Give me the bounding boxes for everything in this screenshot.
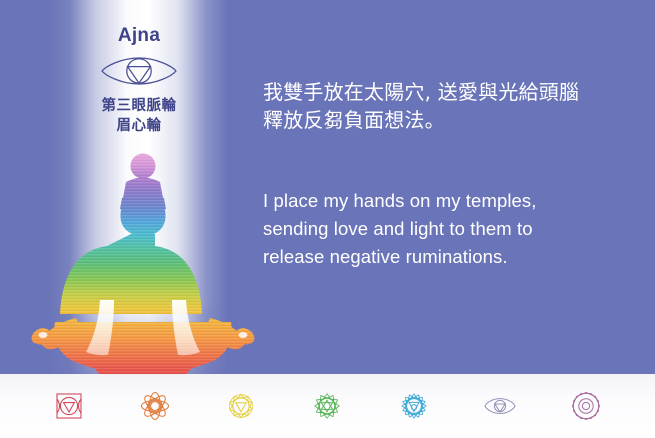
chakra-nav-heart[interactable] [310,389,344,423]
chakra-navigation-bar [0,374,655,438]
chakra-nav-third-eye[interactable] [483,389,517,423]
chakra-nav-solar-plexus[interactable] [224,389,258,423]
manipura-icon [226,391,256,421]
chakra-header: Ajna 第三眼脈輪 眉心輪 [60,26,218,136]
anahata-icon [312,391,342,421]
vishuddha-icon [399,391,429,421]
chakra-chinese-name-line2: 眉心輪 [60,117,218,137]
chakra-nav-root[interactable] [52,389,86,423]
chakra-nav-throat[interactable] [397,389,431,423]
affirmation-english: I place my hands on my temples, sending … [263,187,635,271]
chakra-sanskrit-name: Ajna [60,26,218,45]
chakra-chinese-name-line1: 第三眼脈輪 [60,97,218,117]
ajna-icon [484,396,516,416]
affirmation-english-line3: release negative ruminations. [263,243,635,271]
muladhara-icon [54,391,84,421]
svadhisthana-icon [140,391,170,421]
affirmation-text: 我雙手放在太陽穴, 送愛與光給頭腦 釋放反芻負面想法。 I place my h… [263,78,635,271]
third-eye-chakra-icon [60,54,218,88]
affirmation-chinese: 我雙手放在太陽穴, 送愛與光給頭腦 釋放反芻負面想法。 [263,78,635,135]
chakra-nav-crown[interactable] [569,389,603,423]
chakra-chinese-name: 第三眼脈輪 眉心輪 [60,97,218,136]
affirmation-chinese-line2: 釋放反芻負面想法。 [263,106,635,134]
chakra-nav-sacral[interactable] [138,389,172,423]
affirmation-english-line2: sending love and light to them to [263,215,635,243]
chakra-affirmation-card: Ajna 第三眼脈輪 眉心輪 [0,0,655,438]
affirmation-english-line1: I place my hands on my temples, [263,187,635,215]
meditating-lotus-figure [30,152,256,384]
affirmation-chinese-line1: 我雙手放在太陽穴, 送愛與光給頭腦 [263,78,635,106]
sahasrara-icon [571,391,601,421]
